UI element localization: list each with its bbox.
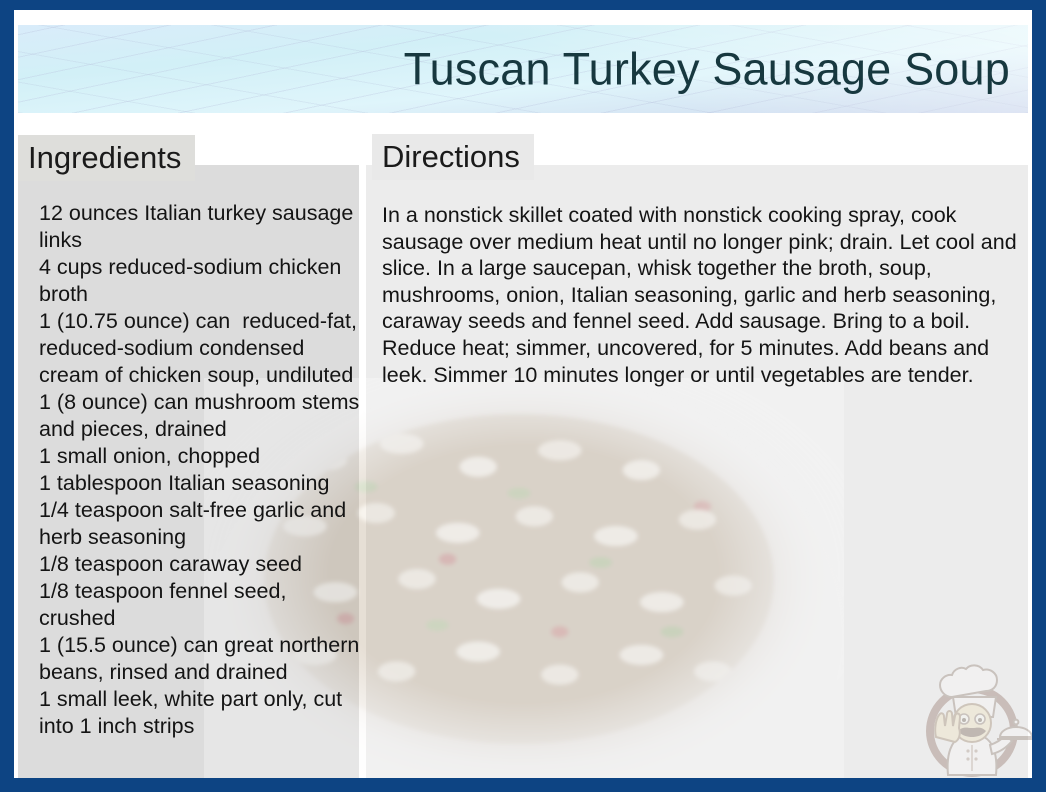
page-title: Tuscan Turkey Sausage Soup [404,45,1010,92]
list-item: 1 (8 ounce) can mushroom stems and piece… [39,389,361,443]
directions-heading: Directions [372,134,534,180]
list-item: 1/8 teaspoon fennel seed, crushed [39,578,361,632]
list-item: 1 (10.75 ounce) can reduced-fat, reduced… [39,308,361,389]
ingredients-list: 12 ounces Italian turkey sausage links 4… [39,200,361,740]
list-item: 1/8 teaspoon caraway seed [39,551,361,578]
list-item: 12 ounces Italian turkey sausage links [39,200,361,254]
list-item: 1 tablespoon Italian seasoning [39,470,361,497]
list-item: 1 small onion, chopped [39,443,361,470]
list-item: 1 small leek, white part only, cut into … [39,686,361,740]
recipe-card: Tuscan Turkey Sausage Soup Ingredients D… [0,0,1046,792]
directions-body: In a nonstick skillet coated with nonsti… [382,202,1022,388]
list-item: 1 (15.5 ounce) can great northern beans,… [39,632,361,686]
list-item: 1/4 teaspoon salt-free garlic and herb s… [39,497,361,551]
title-banner: Tuscan Turkey Sausage Soup [18,25,1028,113]
recipe-page: Tuscan Turkey Sausage Soup Ingredients D… [14,10,1032,778]
list-item: 4 cups reduced-sodium chicken broth [39,254,361,308]
ingredients-heading: Ingredients [18,135,195,181]
